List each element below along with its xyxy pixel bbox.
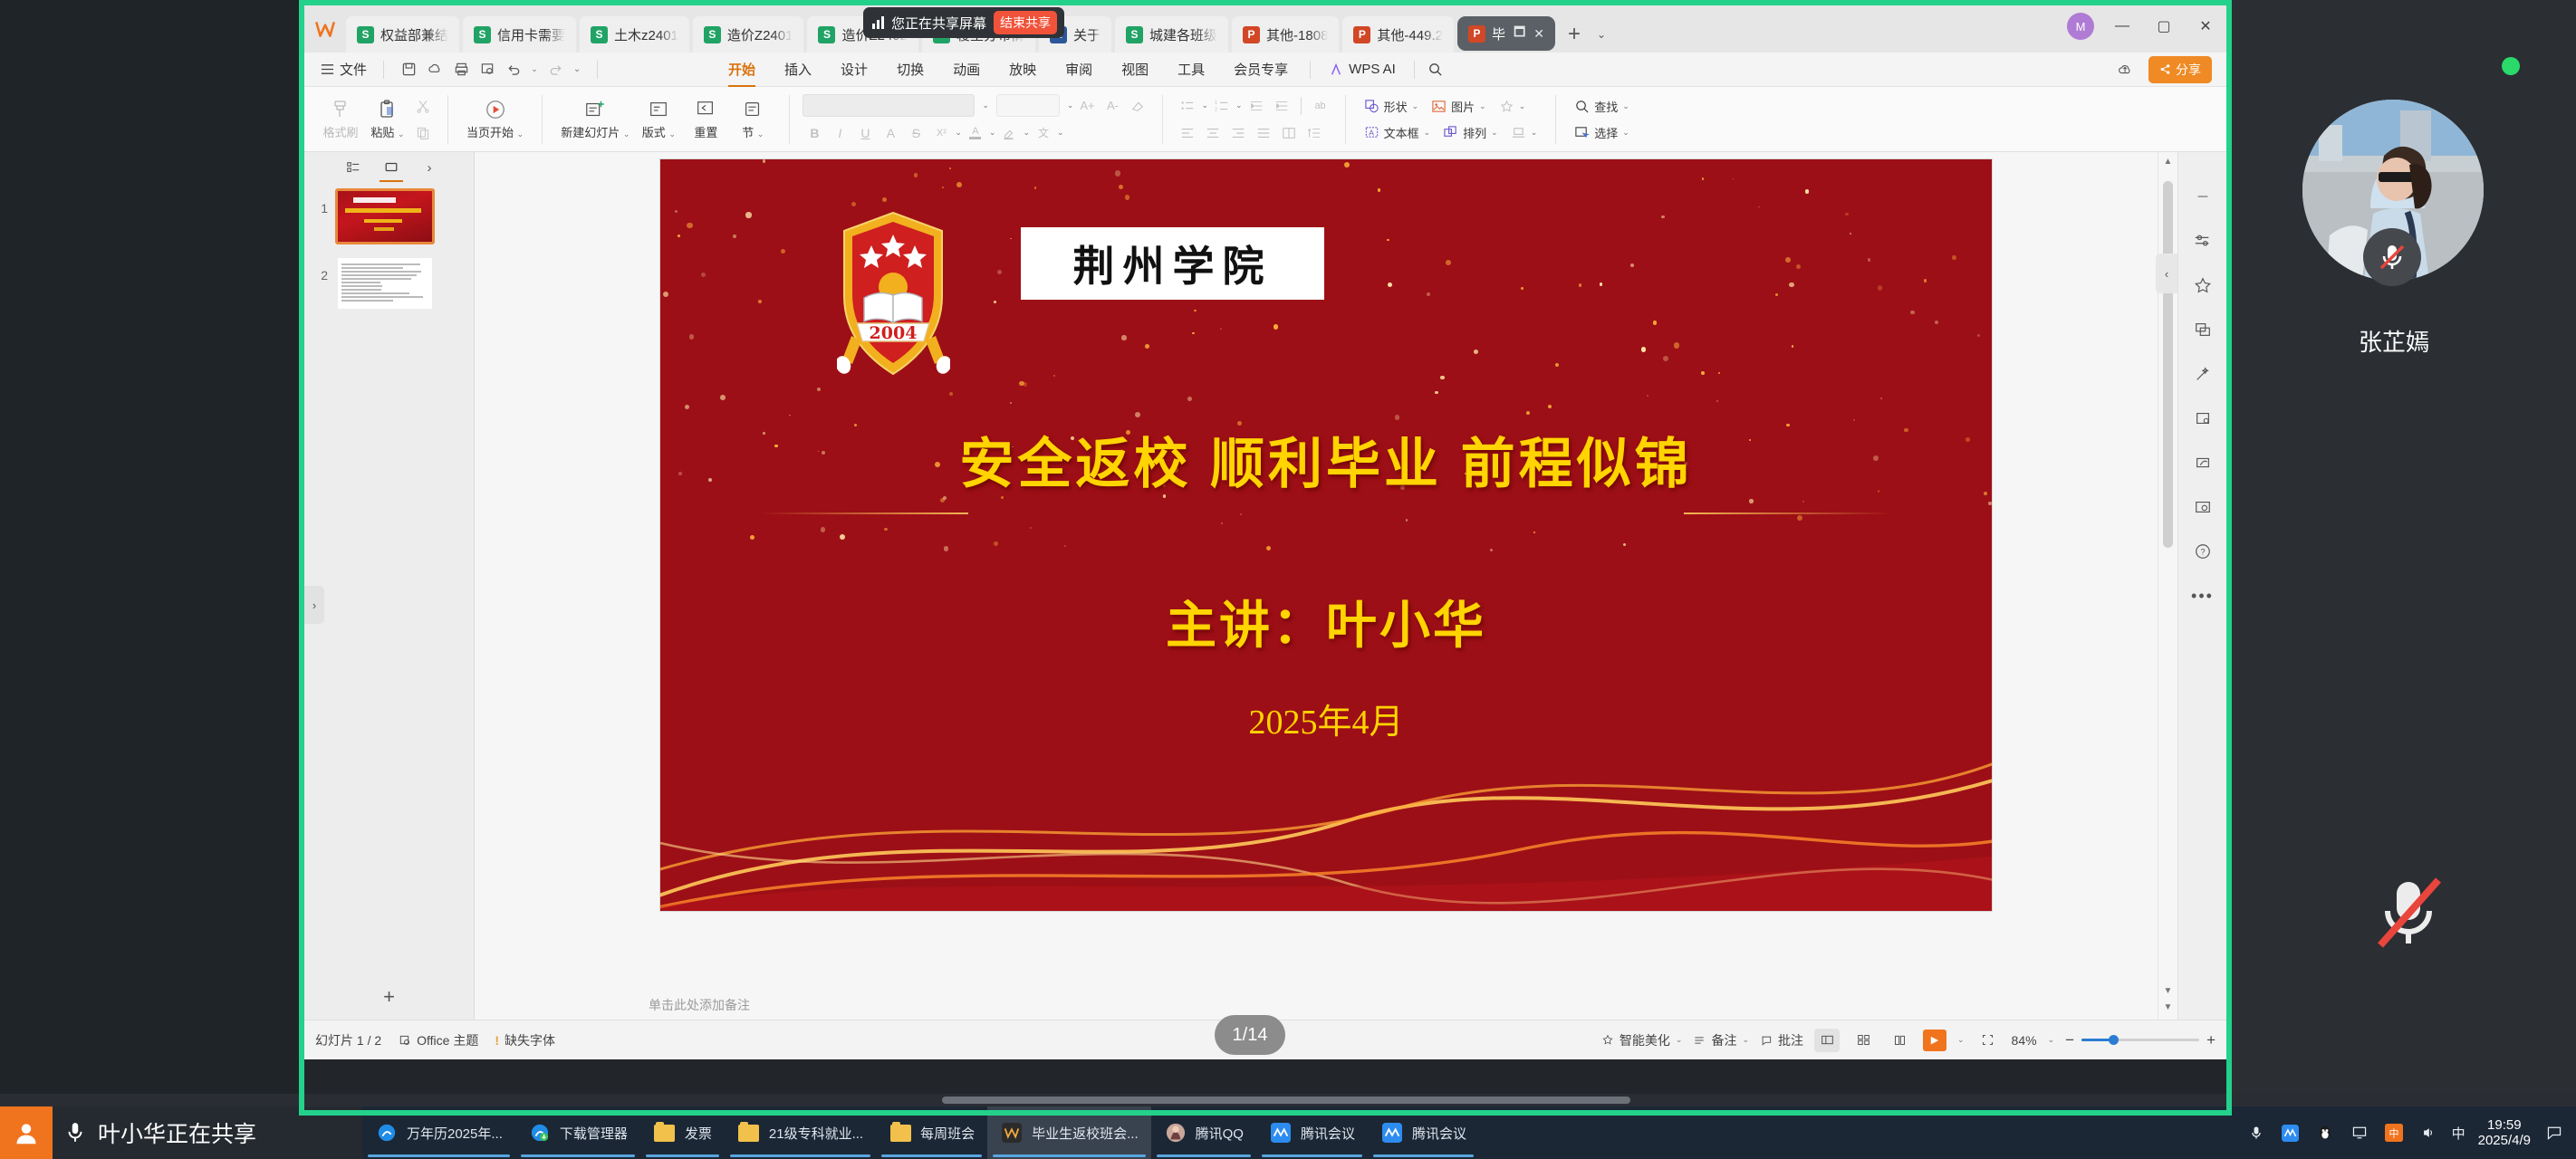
sparkle	[1221, 522, 1223, 524]
user-avatar[interactable]: M	[2067, 13, 2094, 40]
status-indicator-dot	[2502, 57, 2520, 75]
close-button[interactable]: ✕	[2185, 5, 2226, 47]
sparkle	[781, 249, 785, 254]
scroll-next-slide-arrow[interactable]: ▼	[2158, 998, 2177, 1016]
sparkle	[1435, 391, 1438, 395]
reading-search-icon[interactable]	[2191, 495, 2215, 519]
taskbar-item-label: 下载管理器	[560, 1124, 628, 1143]
redo-icon[interactable]	[543, 58, 567, 81]
bold-icon[interactable]: B	[803, 121, 826, 145]
taskbar-item[interactable]: 下载管理器	[515, 1106, 640, 1159]
divider	[597, 61, 598, 79]
meeting-icon[interactable]	[2280, 1122, 2302, 1144]
eco-leaf-icon[interactable]	[2191, 451, 2215, 474]
screen-share-toast: 您正在共享屏幕 结束共享	[863, 7, 1064, 38]
collapse-pane-button[interactable]: ›	[304, 586, 324, 624]
ime-icon[interactable]: 中	[2383, 1122, 2405, 1144]
chevron-right-icon[interactable]: ›	[420, 158, 438, 177]
sparkle	[678, 235, 680, 237]
desktop-background-left	[0, 0, 304, 1116]
sparkle	[1010, 402, 1012, 404]
document-tab-label: 信用卡需要	[497, 25, 565, 44]
align-right-icon[interactable]	[1226, 121, 1250, 145]
sparkle	[884, 528, 887, 531]
sparkle	[997, 270, 1002, 274]
sparkle	[1135, 412, 1140, 417]
taskbar-item[interactable]: 腾讯会议	[1368, 1106, 1479, 1159]
tab-list-button[interactable]: ⌄	[1590, 16, 1613, 53]
taskbar-item[interactable]: 腾讯QQ	[1151, 1106, 1256, 1159]
paste-button[interactable]: 粘贴 ⌄	[364, 99, 411, 140]
print-icon[interactable]	[449, 58, 473, 81]
cloud-upload-icon[interactable]	[2112, 56, 2139, 83]
sparkle	[1653, 321, 1658, 325]
pinyin-guide-icon[interactable]: 文	[1032, 121, 1055, 145]
zoom-dropdown-icon[interactable]: ⌄	[2048, 1035, 2055, 1045]
sparkle	[949, 168, 951, 169]
thumbnail-preview[interactable]	[335, 255, 435, 311]
icon-insert-button[interactable]: ⌄	[1494, 96, 1532, 117]
thumbnail-preview[interactable]	[335, 188, 435, 244]
warning-icon: !	[495, 1033, 499, 1048]
undo-dropdown-icon[interactable]: ⌄	[528, 58, 541, 81]
right-pane-collapse-button[interactable]: ‹	[2156, 254, 2177, 293]
document-tab[interactable]: S造价Z2401	[693, 16, 804, 53]
sparkle	[1533, 532, 1535, 533]
sparkle	[1125, 195, 1130, 200]
arrange-button[interactable]: 排列⌄	[1437, 121, 1504, 144]
tab-restore-icon[interactable]: 🗖	[1514, 23, 1525, 44]
ribbon-tab-7[interactable]: 视图	[1107, 56, 1163, 82]
divider	[1162, 95, 1163, 144]
excel-icon: S	[591, 26, 608, 43]
sparkle	[1145, 344, 1149, 349]
sparkle	[1474, 350, 1478, 354]
ribbon-group-font: ⌄ ⌄ A+ A- B I U A S	[795, 90, 1157, 149]
document-tab[interactable]: S权益部兼结	[346, 16, 459, 53]
save-icon[interactable]	[397, 58, 420, 81]
screen-share-border-top	[299, 0, 2232, 5]
cloud-sync-icon[interactable]	[423, 58, 447, 81]
select-button[interactable]: 选择⌄	[1569, 121, 1635, 144]
zoom-knob[interactable]	[2109, 1035, 2119, 1045]
sparkle	[1121, 335, 1126, 340]
mic-icon	[63, 1121, 87, 1145]
file-menu-button[interactable]: 文件	[312, 60, 376, 79]
sparkle	[1194, 310, 1197, 312]
divider-right	[1684, 512, 1892, 514]
add-slide-button[interactable]: +	[304, 983, 474, 1011]
menu-right-group: 分享	[2112, 56, 2219, 83]
sparkle	[821, 527, 826, 532]
mic-icon[interactable]	[2245, 1122, 2267, 1144]
sparkle	[689, 334, 695, 340]
taskbar-item-label: 每周班会	[920, 1124, 975, 1143]
taskbar-item-underline	[1373, 1154, 1474, 1157]
document-tab-label: 其他-1808	[1266, 25, 1328, 44]
scroll-down-arrow[interactable]: ▼	[2158, 982, 2177, 1000]
sparkle	[1878, 285, 1883, 291]
sparkle	[1797, 515, 1802, 521]
wps-ai-button[interactable]: WPS AI	[1318, 62, 1407, 77]
ribbon-group-slideshow: 当页开始 ⌄	[454, 90, 536, 149]
svg-text:2004: 2004	[870, 323, 918, 343]
ribbon-tab-5[interactable]: 放映	[995, 56, 1051, 82]
ribbon-tab-2[interactable]: 设计	[826, 56, 882, 82]
sparkle	[1952, 255, 1956, 260]
display-icon[interactable]	[2349, 1122, 2370, 1144]
editor-body: › 12 + ›	[304, 152, 2226, 1020]
document-tab[interactable]: P其他-1808	[1232, 16, 1339, 53]
sparkle	[1600, 283, 1603, 286]
sparkle	[1805, 189, 1810, 194]
ribbon-tab-9[interactable]: 会员专享	[1219, 56, 1302, 82]
ribbon-group-slides: 新建幻灯片 ⌄ 版式 ⌄ 重置 节 ⌄	[548, 90, 783, 149]
document-tab[interactable]: P毕🗖✕	[1457, 16, 1555, 51]
magic-wand-icon[interactable]	[2191, 362, 2215, 386]
document-tab-label: 毕	[1492, 24, 1505, 43]
reset-label: 重置	[694, 123, 717, 140]
document-tab[interactable]: S信用卡需要	[463, 16, 576, 53]
taskbar-item-label: 发票	[685, 1124, 712, 1143]
sparkle	[1701, 371, 1705, 375]
taskbar-clock[interactable]: 19:59 2025/4/9	[2478, 1117, 2531, 1149]
sparkle	[1785, 257, 1791, 263]
ribbon-tab-1[interactable]: 插入	[770, 56, 826, 82]
zoom-track[interactable]	[2081, 1039, 2199, 1041]
minimize-button[interactable]: —	[2101, 5, 2143, 47]
new-tab-button[interactable]: +	[1559, 16, 1590, 53]
sparkle	[1775, 293, 1778, 296]
sparkle	[1192, 332, 1194, 334]
sparkle	[758, 300, 762, 303]
sparkle	[994, 541, 999, 547]
file-menu-label: 文件	[340, 60, 367, 79]
school-name-text: 荆州学院	[1073, 234, 1273, 293]
taskbar-item-label: 腾讯会议	[1412, 1124, 1466, 1143]
search-icon[interactable]	[1422, 56, 1449, 83]
taskbar-item[interactable]: 毕业生返校班会...	[987, 1106, 1151, 1159]
strikethrough-icon[interactable]: S	[904, 121, 928, 145]
sparkle	[1220, 328, 1222, 330]
new-slide-button[interactable]: 新建幻灯片 ⌄	[555, 99, 635, 140]
wps-icon	[1000, 1121, 1024, 1145]
clear-format-icon[interactable]	[1126, 94, 1149, 118]
font-warning[interactable]: ! 缺失字体	[495, 1031, 555, 1049]
excel-icon: S	[1126, 26, 1143, 43]
zoom-out-button[interactable]: −	[2065, 1031, 2074, 1049]
download-icon	[528, 1121, 552, 1145]
powerpoint-icon: P	[1468, 25, 1485, 43]
school-name-plate: 荆州学院	[1021, 227, 1324, 300]
cut-icon[interactable]	[411, 94, 435, 118]
sparkle	[1115, 170, 1120, 176]
wps-office-window: S权益部兼结S信用卡需要S土木z2401S造价Z2401S造价Z2402S寝室分…	[304, 5, 2226, 1059]
ribbon-group-paragraph: ⌄ 12 ⌄ ab	[1168, 90, 1339, 149]
help-icon[interactable]: ?	[2191, 540, 2215, 563]
sparkle	[1674, 342, 1679, 348]
text-shadow-icon[interactable]: A	[879, 121, 902, 145]
zoom-slider[interactable]: − +	[2065, 1031, 2216, 1049]
numbered-list-icon[interactable]: 12	[1210, 94, 1234, 118]
reset-button[interactable]: 重置	[682, 99, 729, 140]
sparkle	[745, 212, 751, 217]
excel-icon: S	[474, 26, 491, 43]
taskbar-items: 万年历2025年...下载管理器发票21级专科就业...每周班会毕业生返校班会.…	[362, 1106, 1479, 1159]
play-slideshow-button[interactable]: ▶	[1923, 1030, 1946, 1051]
notes-button[interactable]: 备注⌄	[1693, 1031, 1749, 1049]
sparkle	[1240, 513, 1242, 515]
quick-access-toolbar: ⌄ ⌄	[391, 58, 590, 81]
browser-icon	[375, 1121, 399, 1145]
document-tab[interactable]: P其他-449.2	[1342, 16, 1454, 53]
layout-button[interactable]: 版式 ⌄	[635, 99, 682, 140]
align-button[interactable]: ⌄	[1505, 122, 1543, 143]
section-button[interactable]: 节 ⌄	[729, 99, 776, 140]
ribbon-group-editing: 查找⌄ 选择⌄	[1562, 90, 1642, 149]
font-size-input[interactable]	[996, 94, 1060, 117]
shrink-font-icon[interactable]: A-	[1101, 94, 1124, 118]
sparkle	[817, 388, 821, 391]
sparkle	[701, 273, 706, 277]
sparkle	[663, 292, 668, 297]
meeting-icon	[1380, 1121, 1404, 1145]
play-dropdown-icon[interactable]: ⌄	[1957, 1035, 1965, 1045]
line-spacing-icon[interactable]	[1302, 121, 1326, 145]
ribbon-tab-4[interactable]: 动画	[938, 56, 995, 82]
sparkle	[914, 173, 918, 177]
slide-count: 幻灯片 1 / 2	[315, 1031, 381, 1049]
slide-canvas[interactable]: 2004 荆州学院 安全返校 顺利毕业 前程似锦	[660, 159, 1992, 911]
start-from-current-label: 当页开始 ⌄	[466, 123, 524, 140]
fit-to-window-icon[interactable]	[1975, 1029, 2001, 1052]
ribbon-tab-3[interactable]: 切换	[882, 56, 938, 82]
notification-icon[interactable]	[2543, 1122, 2565, 1144]
document-tab-label: 土木z2401	[614, 25, 678, 44]
school-crest-logo: 2004	[837, 209, 950, 381]
shape-button[interactable]: 形状⌄	[1359, 95, 1425, 118]
sparkle	[1733, 178, 1735, 180]
qat-more-icon[interactable]: ⌄	[570, 58, 584, 81]
sparkle	[685, 405, 689, 409]
sparkle	[1446, 260, 1451, 265]
thumbnail-row[interactable]: 2	[313, 255, 465, 311]
sparkle	[1266, 546, 1271, 551]
sparkle	[1789, 283, 1793, 287]
rail-divider-icon	[2191, 185, 2215, 208]
share-button[interactable]: 分享	[2148, 56, 2212, 83]
sparkle	[1988, 502, 1991, 504]
sparkle	[1548, 405, 1552, 409]
format-painter-button[interactable]: 格式刷	[317, 99, 364, 140]
undo-icon[interactable]	[502, 58, 525, 81]
underline-icon[interactable]: U	[853, 121, 877, 145]
volume-icon[interactable]	[2417, 1122, 2439, 1144]
sparkle	[1526, 411, 1530, 415]
sparkle	[1845, 213, 1849, 216]
taskbar-item[interactable]: 发票	[640, 1106, 725, 1159]
normal-view-icon[interactable]	[1814, 1029, 1840, 1052]
maximize-button[interactable]: ▢	[2143, 5, 2185, 47]
sparkle	[1647, 395, 1648, 397]
zoom-level[interactable]: 84%	[2012, 1033, 2037, 1048]
sparkle	[763, 159, 765, 162]
ribbon-tab-6[interactable]: 审阅	[1051, 56, 1107, 82]
decrease-indent-icon[interactable]	[1245, 94, 1268, 118]
sparkle	[840, 534, 845, 540]
theme-indicator[interactable]: Office 主题	[398, 1031, 478, 1049]
thumbnail-number: 1	[313, 188, 328, 216]
taskbar-item-label: 腾讯会议	[1301, 1124, 1355, 1143]
notes-placeholder[interactable]: 单击此处添加备注	[649, 996, 750, 1014]
svg-text:A: A	[1369, 128, 1374, 137]
sparkle	[942, 187, 944, 188]
taskbar-item[interactable]: 万年历2025年...	[362, 1106, 515, 1159]
ribbon-tab-8[interactable]: 工具	[1163, 56, 1219, 82]
sparkle	[1490, 549, 1493, 551]
reading-view-icon[interactable]	[1887, 1029, 1912, 1052]
justify-icon[interactable]	[1252, 121, 1275, 145]
outline-view-icon[interactable]	[344, 158, 362, 177]
share-signal-icon	[872, 16, 884, 29]
sparkle	[1796, 264, 1801, 269]
excel-icon: S	[357, 26, 374, 43]
taskbar-item-underline	[993, 1154, 1146, 1157]
format-painter-label: 格式刷	[322, 123, 358, 140]
sparkle	[1053, 375, 1055, 377]
sparkle	[675, 210, 678, 213]
picture-button[interactable]: 图片⌄	[1426, 95, 1492, 118]
sparkle	[1623, 543, 1626, 546]
window-tab-bar: S权益部兼结S信用卡需要S土木z2401S造价Z2401S造价Z2402S寝室分…	[304, 5, 2226, 53]
superscript-icon[interactable]: X²	[929, 121, 953, 145]
taskbar-item-label: 21级专科就业...	[769, 1124, 863, 1143]
clock-date: 2025/4/9	[2478, 1133, 2531, 1148]
copy-icon[interactable]	[411, 121, 435, 145]
sparkle	[1977, 334, 1980, 337]
slide-speaker: 主讲：叶小华	[660, 585, 1992, 658]
zoom-in-button[interactable]: +	[2206, 1031, 2216, 1049]
taskbar-item[interactable]: 21级专科就业...	[725, 1106, 876, 1159]
slide-headline: 安全返校 顺利毕业 前程似锦	[660, 420, 1992, 499]
scroll-thumb[interactable]	[2163, 181, 2173, 548]
scroll-thumb[interactable]	[942, 1097, 1630, 1104]
divider-left	[760, 512, 968, 514]
clock-time: 19:59	[2487, 1117, 2522, 1133]
settings-sliders-icon[interactable]	[2191, 229, 2215, 253]
textbox-button[interactable]: A 文本框⌄	[1359, 121, 1437, 144]
taskbar-item-label: 毕业生返校班会...	[1032, 1124, 1139, 1143]
align-center-icon[interactable]	[1201, 121, 1225, 145]
align-left-icon[interactable]	[1176, 121, 1199, 145]
bullet-list-icon[interactable]	[1176, 94, 1199, 118]
svg-text:1: 1	[1215, 101, 1217, 106]
increase-indent-icon[interactable]	[1270, 94, 1293, 118]
document-tab-label: 城建各班级	[1149, 25, 1217, 44]
sparkle	[1802, 501, 1804, 503]
font-name-input[interactable]	[803, 94, 975, 117]
qq-penguin-icon[interactable]	[2314, 1122, 2336, 1144]
comments-button[interactable]: 批注	[1760, 1031, 1803, 1049]
sparkle	[1702, 177, 1704, 179]
more-options-icon[interactable]: •••	[2191, 584, 2215, 608]
sparkle	[1630, 263, 1634, 267]
font-color-icon[interactable]: A	[964, 121, 987, 145]
thumbnail-row[interactable]: 1	[313, 188, 465, 244]
italic-icon[interactable]: I	[828, 121, 851, 145]
sparkle	[1274, 324, 1279, 330]
smart-layout-icon[interactable]	[2191, 407, 2215, 430]
slide-thumbnail-pane: › 12 + ›	[304, 152, 475, 1020]
grow-font-icon[interactable]: A+	[1075, 94, 1099, 118]
ribbon-tab-0[interactable]: 开始	[714, 56, 770, 82]
sparkle	[882, 197, 888, 203]
participant-name-label: 张芷嫣	[2321, 319, 2467, 362]
start-from-current-slide-button[interactable]: 当页开始 ⌄	[461, 99, 529, 140]
windows-taskbar: 万年历2025年...下载管理器发票21级专科就业...每周班会毕业生返校班会.…	[0, 1106, 2576, 1159]
sparkle	[720, 395, 726, 400]
taskbar-item[interactable]: 每周班会	[876, 1106, 987, 1159]
sparkle	[1064, 545, 1066, 547]
sparkle	[1388, 283, 1392, 287]
sparkle	[687, 223, 692, 228]
text-direction-icon[interactable]: ab	[1309, 94, 1332, 118]
beautify-star-icon[interactable]	[2191, 273, 2215, 297]
desktop-horizontal-scrollbar[interactable]	[0, 1094, 2576, 1106]
columns-icon[interactable]	[1277, 121, 1301, 145]
sparkle	[1716, 400, 1718, 402]
right-tool-rail: ? •••	[2177, 152, 2226, 1020]
templates-icon[interactable]	[2191, 318, 2215, 341]
find-button[interactable]: 查找⌄	[1569, 95, 1635, 118]
highlighter-icon[interactable]	[997, 121, 1021, 145]
ribbon-toolbar: 格式刷 粘贴 ⌄ 当页	[304, 87, 2226, 152]
sparkle	[1555, 363, 1559, 367]
tab-close-icon[interactable]: ✕	[1533, 26, 1544, 42]
smart-beautify-button[interactable]: 智能美化⌄	[1601, 1031, 1683, 1049]
slide-view-icon[interactable]	[382, 158, 400, 177]
slide-sorter-icon[interactable]	[1850, 1029, 1876, 1052]
sparkle	[750, 535, 755, 540]
thumbnail-list: 12	[304, 183, 474, 328]
folder-icon	[889, 1121, 912, 1145]
sparkle	[1406, 519, 1408, 522]
excel-icon: S	[818, 26, 835, 43]
document-tab[interactable]: S城建各班级	[1115, 16, 1228, 53]
document-tab[interactable]: S土木z2401	[580, 16, 689, 53]
thumbnail-view-toggles: ›	[304, 152, 474, 183]
print-preview-icon[interactable]	[476, 58, 499, 81]
divider	[1414, 61, 1415, 79]
ime-language-label[interactable]: 中	[2452, 1124, 2465, 1143]
ribbon-group-insert: 形状⌄ 图片⌄ ⌄ A 文本	[1351, 90, 1551, 149]
sparkle	[1395, 415, 1400, 420]
document-tab-label: 关于	[1073, 25, 1101, 44]
scroll-up-arrow[interactable]: ▲	[2158, 152, 2177, 170]
slide-decoration-swirls	[660, 721, 1992, 911]
sparkle	[1661, 216, 1664, 218]
sparkle	[1010, 238, 1012, 240]
share-button-label: 分享	[2176, 61, 2201, 79]
sparkle	[1718, 372, 1720, 374]
taskbar-item[interactable]: 腾讯会议	[1256, 1106, 1368, 1159]
sparkle	[1935, 321, 1938, 324]
mute-status-large-icon[interactable]	[2366, 869, 2453, 956]
status-bar-right: 智能美化⌄ 备注⌄ 批注 ▶ ⌄ 84% ⌄ −	[1601, 1029, 2216, 1052]
sparkle	[1850, 233, 1851, 235]
sparkle	[789, 415, 791, 417]
stop-share-button[interactable]: 结束共享	[994, 11, 1057, 34]
